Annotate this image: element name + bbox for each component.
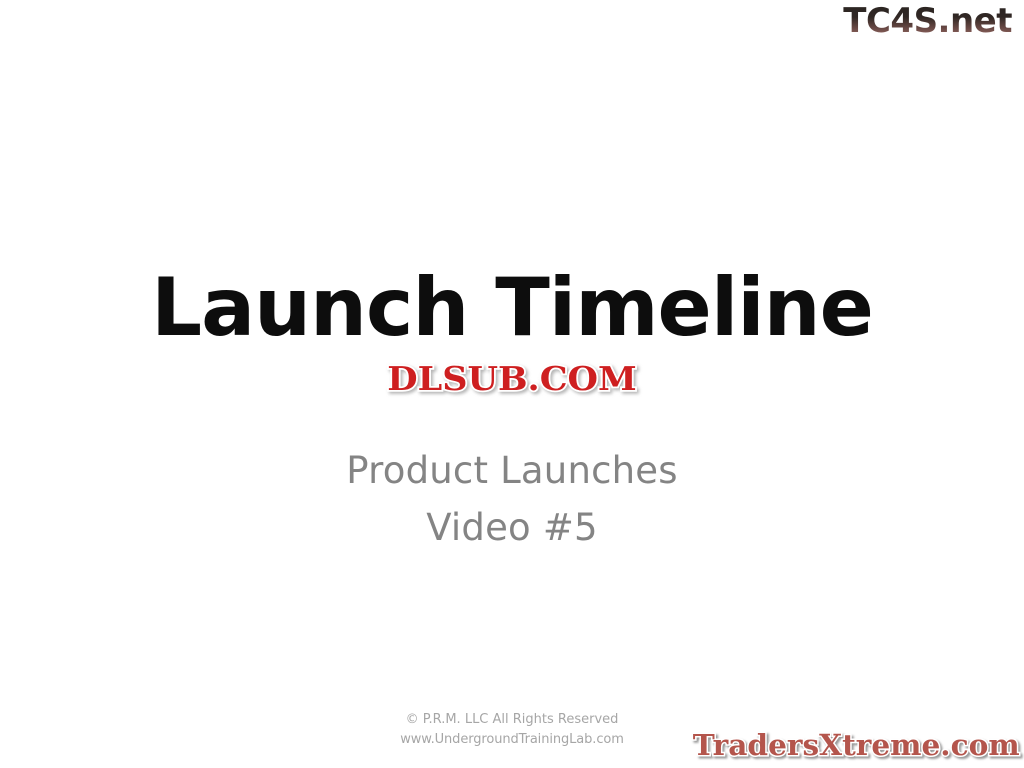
dlsub-watermark: DLSUB.COM bbox=[394, 362, 629, 395]
tradersxtreme-logo: TradersXtreme.com bbox=[696, 731, 1016, 760]
presentation-slide: TC4S.net Launch Timeline DLSUB.COM Produ… bbox=[0, 0, 1024, 768]
tradersxtreme-logo-label: TradersXtreme.com bbox=[692, 731, 1019, 760]
tc4s-logo: TC4S.net bbox=[843, 4, 1012, 38]
subtitle-line-product-launches: Product Launches bbox=[0, 442, 1024, 499]
subtitle-line-video-number: Video #5 bbox=[0, 499, 1024, 556]
page-title: Launch Timeline bbox=[0, 268, 1024, 348]
dlsub-watermark-label: DLSUB.COM bbox=[387, 362, 636, 395]
title-area: Launch Timeline bbox=[0, 268, 1024, 348]
subtitle-area: Product Launches Video #5 bbox=[0, 442, 1024, 557]
